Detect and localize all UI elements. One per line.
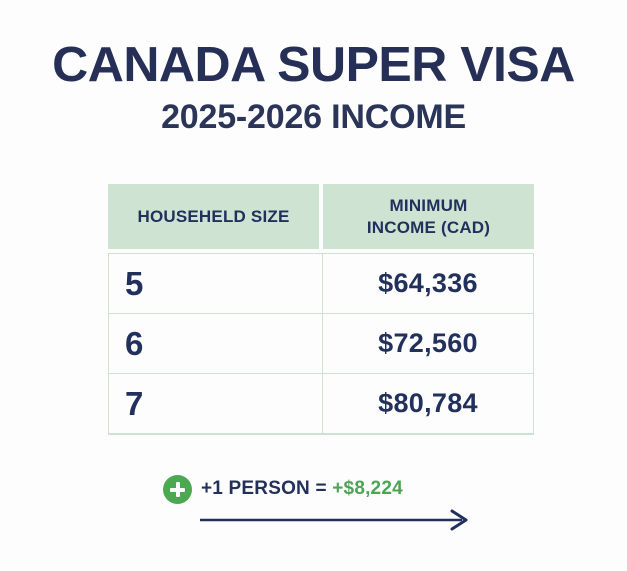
column-header-minimum-income-line1: MINIMUM <box>390 196 468 215</box>
cell-minimum-income: $80,784 <box>323 374 533 433</box>
footer-note-amount: +$8,224 <box>332 478 403 499</box>
footer-note: +1 PERSON = +$8,224 <box>163 474 473 536</box>
right-arrow-icon <box>200 509 473 536</box>
income-table: HOUSEHELD SIZE MINIMUM INCOME (CAD) 5 $6… <box>108 184 534 435</box>
table-row: 5 $64,336 <box>109 254 533 314</box>
page-title: CANADA SUPER VISA <box>0 40 627 91</box>
footer-note-text: +1 PERSON = +$8,224 <box>201 478 403 500</box>
cell-household-size: 6 <box>109 314 323 373</box>
title-block: CANADA SUPER VISA 2025-2026 INCOME <box>0 0 627 136</box>
page-subtitle: 2025-2026 INCOME <box>0 100 627 136</box>
table-row: 6 $72,560 <box>109 314 533 374</box>
table-body: 5 $64,336 6 $72,560 7 $80,784 <box>108 253 534 435</box>
column-header-household-size: HOUSEHELD SIZE <box>108 184 319 249</box>
plus-circle-icon <box>163 475 192 504</box>
infographic-root: CANADA SUPER VISA 2025-2026 INCOME HOUSE… <box>0 0 627 571</box>
cell-minimum-income: $64,336 <box>323 254 533 313</box>
column-header-minimum-income-line2: INCOME (CAD) <box>367 218 490 237</box>
table-header-row: HOUSEHELD SIZE MINIMUM INCOME (CAD) <box>108 184 534 249</box>
footer-note-prefix: +1 PERSON = <box>201 478 332 499</box>
footer-note-line: +1 PERSON = +$8,224 <box>163 474 473 504</box>
table-row: 7 $80,784 <box>109 374 533 433</box>
cell-household-size: 7 <box>109 374 323 433</box>
cell-household-size: 5 <box>109 254 323 313</box>
cell-minimum-income: $72,560 <box>323 314 533 373</box>
column-header-minimum-income: MINIMUM INCOME (CAD) <box>323 184 534 249</box>
